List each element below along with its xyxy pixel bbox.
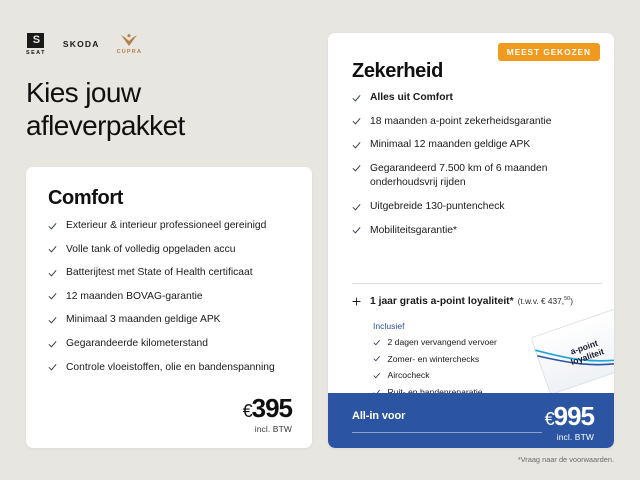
check-icon	[352, 117, 361, 126]
seat-wordmark: SEAT	[26, 50, 46, 56]
cupra-logo-icon	[119, 33, 139, 48]
allin-underline	[352, 432, 542, 433]
check-icon	[373, 339, 381, 347]
list-item: 12 maanden BOVAG-garantie	[48, 290, 296, 305]
check-icon	[352, 94, 361, 103]
skoda-logo-icon: SKODA	[63, 39, 100, 49]
list-item: Alles uit Comfort	[352, 91, 602, 106]
inclusief-label: Inclusief	[373, 321, 548, 331]
list-item: Gegarandeerde kilometerstand	[48, 337, 296, 352]
list-item: Minimaal 12 maanden geldige APK	[352, 138, 602, 153]
list-item: Exterieur & interieur professioneel gere…	[48, 219, 296, 234]
check-icon	[48, 340, 57, 349]
list-item-label: Gegarandeerde kilometerstand	[66, 337, 208, 352]
comfort-price-block: €395 incl. BTW	[243, 395, 292, 434]
list-item-label: Minimaal 3 maanden geldige APK	[66, 313, 221, 328]
list-item-label: Gegarandeerd 7.500 km of 6 maanden onder…	[370, 162, 602, 191]
check-icon	[373, 355, 381, 363]
list-item-label: Batterijtest met State of Health certifi…	[66, 266, 253, 281]
zekerheid-package-card[interactable]: MEEST GEKOZEN Zekerheid Alles uit Comfor…	[328, 33, 614, 448]
check-icon	[352, 141, 361, 150]
zekerheid-card-title: Zekerheid	[352, 60, 443, 83]
list-item: Uitgebreide 130-puntencheck	[352, 200, 602, 215]
loyalty-value: (t.w.v. € 437,50)	[518, 296, 573, 306]
inclusief-block: Inclusief 2 dagen vervangend vervoer Zom…	[373, 321, 548, 404]
status-badge: MEEST GEKOZEN	[498, 43, 600, 61]
list-item-label: Zomer- en winterchecks	[388, 354, 480, 365]
list-item: Zomer- en winterchecks	[373, 354, 548, 365]
brand-cupra: CUPRA	[117, 33, 143, 55]
list-item: Gegarandeerd 7.500 km of 6 maanden onder…	[352, 162, 602, 191]
check-icon	[352, 226, 361, 235]
list-item: Volle tank of volledig opgeladen accu	[48, 243, 296, 258]
allin-label: All-in voor	[352, 410, 405, 422]
brand-skoda: SKODA	[63, 39, 100, 49]
check-icon	[48, 245, 57, 254]
page-title: Kies jouw afleverpakket	[26, 76, 301, 142]
price-value: 995	[554, 401, 594, 431]
loyalty-addon-label: 1 jaar gratis a-point loyaliteit*(t.w.v.…	[370, 295, 573, 309]
check-icon	[352, 164, 361, 173]
list-item-label: Mobiliteitsgarantie*	[370, 224, 457, 239]
loyalty-addon-row: 1 jaar gratis a-point loyaliteit*(t.w.v.…	[352, 295, 608, 309]
brand-logos: S SEAT SKODA CUPRA	[26, 33, 142, 56]
check-icon	[48, 222, 57, 231]
loyalty-value-prefix: (t.w.v. € 437,	[518, 296, 564, 306]
comfort-price-vat-note: incl. BTW	[243, 424, 292, 434]
list-item: Mobiliteitsgarantie*	[352, 224, 602, 239]
comfort-package-card[interactable]: Comfort Exterieur & interieur profession…	[26, 167, 312, 448]
list-item-label: Aircocheck	[388, 370, 430, 381]
list-item: 2 dagen vervangend vervoer	[373, 337, 548, 348]
list-item-label: 12 maanden BOVAG-garantie	[66, 290, 203, 305]
list-item-label: 18 maanden a-point zekerheidsgarantie	[370, 115, 551, 130]
loyalty-title: 1 jaar gratis a-point loyaliteit*	[370, 296, 514, 307]
loyalty-value-suffix: )	[570, 296, 573, 306]
comfort-price: €395	[243, 395, 292, 421]
comfort-feature-list: Exterieur & interieur professioneel gere…	[48, 219, 296, 384]
list-item: Aircocheck	[373, 370, 548, 381]
currency-symbol: €	[545, 409, 554, 429]
list-item-label: Volle tank of volledig opgeladen accu	[66, 243, 235, 258]
list-item: Minimaal 3 maanden geldige APK	[48, 313, 296, 328]
check-icon	[373, 372, 381, 380]
list-item: Controle vloeistoffen, olie en bandenspa…	[48, 361, 296, 376]
left-column: S SEAT SKODA CUPRA Kies jouw afleverpakk…	[0, 0, 320, 480]
list-item-label: 2 dagen vervangend vervoer	[388, 337, 497, 348]
currency-symbol: €	[243, 401, 252, 421]
check-icon	[48, 363, 57, 372]
footnote: *Vraag naar de voorwaarden.	[518, 455, 614, 464]
zekerheid-feature-list: Alles uit Comfort 18 maanden a-point zek…	[352, 91, 602, 247]
list-item-label: Uitgebreide 130-puntencheck	[370, 200, 505, 215]
divider	[352, 283, 602, 284]
check-icon	[48, 269, 57, 278]
plus-icon	[352, 297, 361, 306]
cupra-wordmark: CUPRA	[117, 49, 143, 55]
seat-logo-icon: S	[27, 33, 44, 48]
price-value: 395	[252, 393, 292, 423]
list-item: Batterijtest met State of Health certifi…	[48, 266, 296, 281]
comfort-card-title: Comfort	[48, 187, 123, 210]
list-item: 18 maanden a-point zekerheidsgarantie	[352, 115, 602, 130]
check-icon	[352, 203, 361, 212]
zekerheid-price: €995	[545, 403, 594, 429]
zekerheid-price-vat-note: incl. BTW	[545, 432, 594, 442]
list-item-label: Exterieur & interieur professioneel gere…	[66, 219, 266, 234]
allin-price-footer: All-in voor €995 incl. BTW	[328, 393, 614, 448]
brand-seat: S SEAT	[26, 33, 46, 56]
allin-price-block: €995 incl. BTW	[545, 403, 594, 442]
list-item-label: Controle vloeistoffen, olie en bandenspa…	[66, 361, 275, 376]
check-icon	[48, 316, 57, 325]
list-item-label: Minimaal 12 maanden geldige APK	[370, 138, 530, 153]
list-item-label: Alles uit Comfort	[370, 91, 453, 106]
check-icon	[48, 292, 57, 301]
